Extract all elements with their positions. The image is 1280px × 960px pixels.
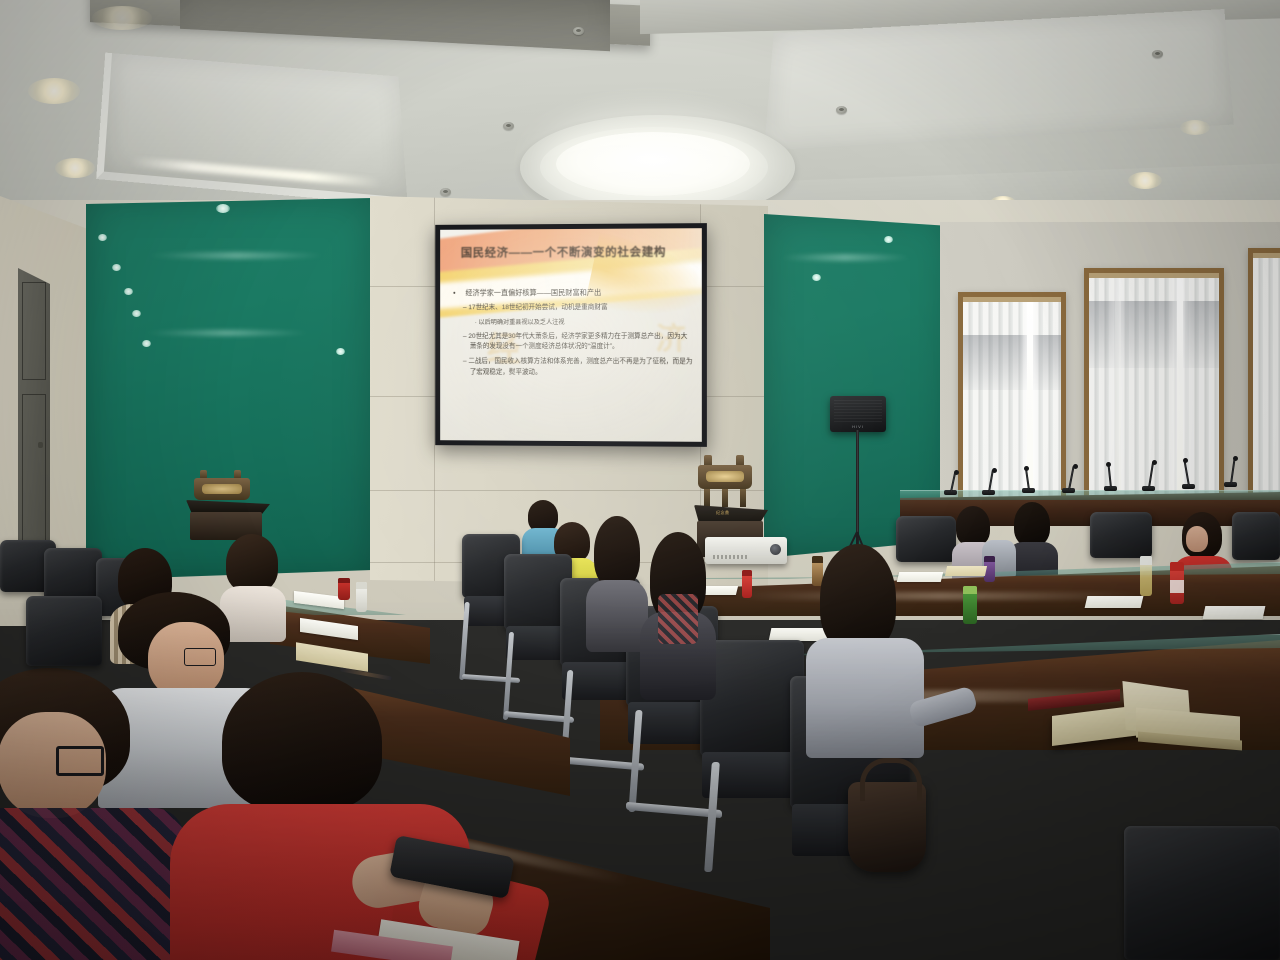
door-panel-lower [22, 394, 46, 546]
notebook-paper [897, 572, 943, 582]
downlight-icon [28, 78, 80, 104]
projector-lens-icon [770, 544, 781, 555]
white-bottle [356, 582, 367, 612]
ceiling-coffer-left [96, 53, 408, 206]
trophy-plaque-text: 纪念鼎 [716, 510, 730, 516]
dome-ceiling-light [556, 132, 750, 196]
speaker-grille [834, 400, 882, 422]
bullet-text: 17世纪末、18世纪初开始尝试，动机是重商财富 [468, 304, 607, 311]
door-panel-upper [22, 282, 46, 380]
handbag-strap [860, 758, 922, 801]
back-table-glass [900, 490, 1280, 500]
sprinkler-icon [573, 27, 584, 35]
bullet-text: 经济学家一直偏好核算——国民财富和产出 [465, 288, 601, 297]
slide-bullet-1: • 经济学家一直偏好核算——国民财富和产出 [453, 287, 694, 299]
bullet-marker: – [463, 333, 467, 340]
bullet-marker: • [453, 288, 455, 297]
projection-screen: 经 济 国民经济——一个不断演变的社会建构 • 经济学家一直偏好核算——国民财富… [435, 223, 707, 447]
notebook-paper [1085, 596, 1144, 608]
slide-bullet-3: · 以后明确对重县视以及乏人注视 [475, 318, 694, 328]
slide-surface: 经 济 国民经济——一个不断演变的社会建构 • 经济学家一直偏好核算——国民财富… [440, 228, 702, 442]
window-right [1248, 248, 1280, 510]
slide-title: 国民经济——一个不断演变的社会建构 [461, 243, 691, 260]
window-center [1084, 268, 1224, 518]
thermos-bottle [963, 586, 977, 624]
window-left [958, 292, 1066, 514]
red-cup [338, 578, 350, 600]
ceiling-coffer-right [764, 9, 1234, 150]
slide-bullet-2: – 17世纪末、18世纪初开始尝试，动机是重商财富 [463, 303, 694, 314]
speaker-brand-label: HIVI [830, 424, 886, 429]
downlight-icon [92, 6, 152, 30]
projector-vent [713, 555, 747, 559]
trophy-ding-left [186, 470, 272, 540]
door-handle-icon[interactable] [38, 442, 43, 448]
notebook-paper [1203, 606, 1266, 619]
projector [705, 537, 787, 564]
slide-bullet-5: – 二战后，国民收入核算方法和体系完善，测度总产出不再是为了征税，而是为了宏观稳… [463, 357, 694, 378]
door[interactable] [18, 268, 50, 558]
bullet-text: 以后明确对重县视以及乏人注视 [479, 319, 565, 326]
downlight-icon [1128, 172, 1162, 189]
water-bottle-red-label [1170, 562, 1184, 604]
slide-body: • 经济学家一直偏好核算——国民财富和产出 – 17世纪末、18世纪初开始尝试，… [453, 287, 694, 384]
loudspeaker: HIVI [830, 396, 886, 432]
downlight-icon [55, 158, 95, 178]
bullet-marker: · [475, 319, 477, 326]
water-bottle [742, 570, 752, 598]
sprinkler-icon [503, 122, 514, 130]
chair[interactable] [1124, 826, 1280, 960]
open-book [945, 566, 987, 576]
chair[interactable] [26, 596, 102, 676]
bullet-text: 二战后，国民收入核算方法和体系完善，测度总产出不再是为了征税，而是为了宏观稳定，… [468, 358, 692, 375]
eyeglasses-icon [56, 746, 104, 776]
water-bottle [1140, 556, 1152, 596]
downlight-icon [1180, 120, 1210, 135]
sprinkler-icon [440, 188, 451, 196]
bullet-text: 20世纪尤其是30年代大萧条后，经济学家更多精力在于测算总产出，因为大萧条的发现… [468, 333, 687, 350]
table-reflection [740, 592, 1140, 600]
slide-bullet-4: – 20世纪尤其是30年代大萧条后，经济学家更多精力在于测算总产出，因为大萧条的… [463, 332, 694, 353]
conference-room-photo: 经 济 国民经济——一个不断演变的社会建构 • 经济学家一直偏好核算——国民财富… [0, 0, 1280, 960]
ceiling-coffer-top [180, 0, 610, 51]
sprinkler-icon [1152, 50, 1163, 58]
bullet-marker: – [463, 304, 467, 311]
bullet-marker: – [463, 358, 467, 365]
eyeglasses-icon [184, 648, 216, 666]
sprinkler-icon [836, 106, 847, 114]
